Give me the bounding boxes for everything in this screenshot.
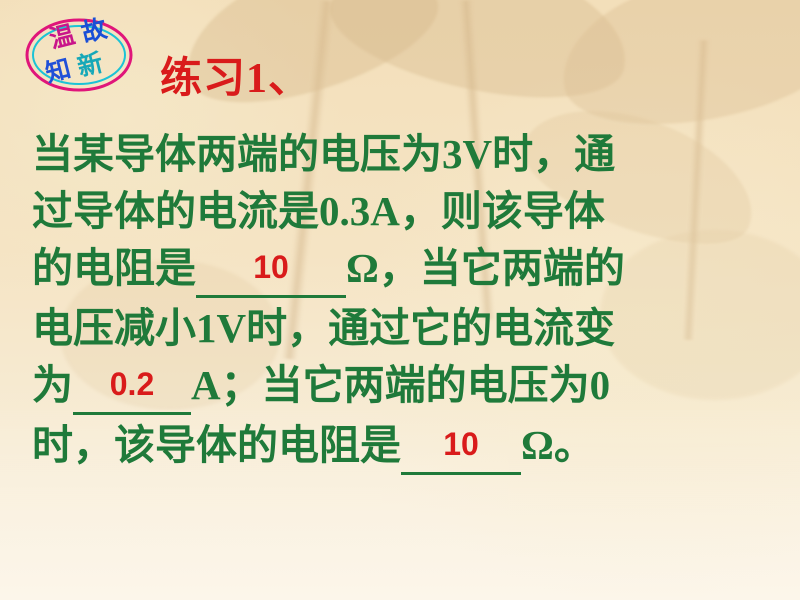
question-line-2: 过导体的电流是0.3A，则该导体 xyxy=(32,183,776,240)
answer-blank-3: 10 xyxy=(401,420,521,477)
question-body: 当某导体两端的电压为3V时，通 过导体的电流是0.3A，则该导体 的电阻是10Ω… xyxy=(32,126,776,477)
line6-post: Ω。 xyxy=(521,422,595,468)
line5-post: A；当它两端的电压为0 xyxy=(191,362,610,408)
line3-post: Ω，当它两端的 xyxy=(346,245,625,291)
question-line-4: 电压减小1V时，通过它的电流变 xyxy=(32,300,776,357)
slide-canvas: 温 故 知 新 练习1、 当某导体两端的电压为3V时，通 过导体的电流是0.3A… xyxy=(0,0,800,600)
answer-blank-1: 10 xyxy=(196,243,346,300)
slide-content: 练习1、 当某导体两端的电压为3V时，通 过导体的电流是0.3A，则该导体 的电… xyxy=(0,0,800,600)
question-line-6: 时，该导体的电阻是10Ω。 xyxy=(32,417,776,477)
answer-blank-2-value: 0.2 xyxy=(110,366,154,402)
answer-blank-3-value: 10 xyxy=(443,426,479,462)
page-title: 练习1、 xyxy=(160,44,311,105)
question-line-1: 当某导体两端的电压为3V时，通 xyxy=(32,126,776,183)
answer-blank-1-value: 10 xyxy=(253,249,289,285)
question-line-5: 为0.2A；当它两端的电压为0 xyxy=(32,357,776,417)
line6-pre: 时，该导体的电阻是 xyxy=(32,422,401,468)
answer-blank-2: 0.2 xyxy=(73,360,191,417)
question-line-3: 的电阻是10Ω，当它两端的 xyxy=(32,240,776,300)
line5-pre: 为 xyxy=(32,362,73,408)
line3-pre: 的电阻是 xyxy=(32,245,196,291)
